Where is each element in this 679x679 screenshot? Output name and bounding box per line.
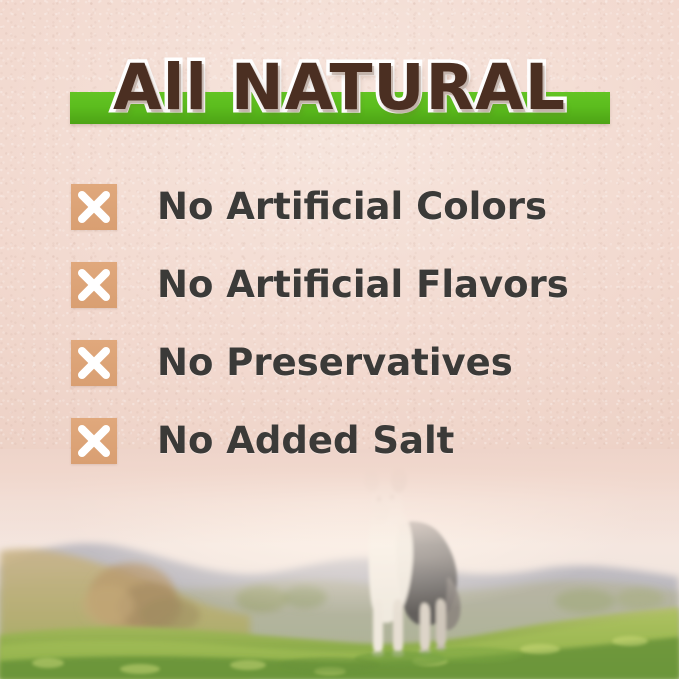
- dog-muzzle: [372, 502, 390, 523]
- x-mark-glyph: [71, 418, 117, 464]
- title-banner: All NATURAL: [0, 44, 679, 142]
- feature-label: No Artificial Colors: [157, 184, 547, 230]
- list-item: No Artificial Flavors: [0, 246, 679, 324]
- x-mark-icon: [71, 262, 117, 308]
- dog-landscape-photo: [0, 449, 679, 679]
- x-mark-icon: [71, 184, 117, 230]
- dog-hind-leg-right: [436, 599, 446, 647]
- feature-label: No Added Salt: [157, 418, 454, 464]
- list-item: No Preservatives: [0, 324, 679, 402]
- list-item: No Added Salt: [0, 402, 679, 480]
- x-mark-glyph: [71, 340, 117, 386]
- dog-eye-2: [390, 494, 395, 500]
- dog-front-leg-right: [393, 599, 403, 653]
- page-title: All NATURAL: [0, 44, 679, 132]
- dog-front-leg-left: [373, 599, 383, 653]
- feature-label: No Preservatives: [157, 340, 513, 386]
- landscape-illustration: [0, 449, 679, 679]
- list-item: No Artificial Colors: [0, 168, 679, 246]
- dog-hind-leg-left: [420, 603, 430, 651]
- x-mark-glyph: [71, 184, 117, 230]
- feature-label: No Artificial Flavors: [157, 262, 569, 308]
- x-mark-icon: [71, 340, 117, 386]
- x-mark-glyph: [71, 262, 117, 308]
- x-mark-icon: [71, 418, 117, 464]
- dog-eye: [376, 496, 381, 502]
- all-natural-poster: All NATURAL No Artificial Colors: [0, 0, 679, 679]
- feature-list: No Artificial Colors No Artificial Flavo…: [0, 168, 679, 480]
